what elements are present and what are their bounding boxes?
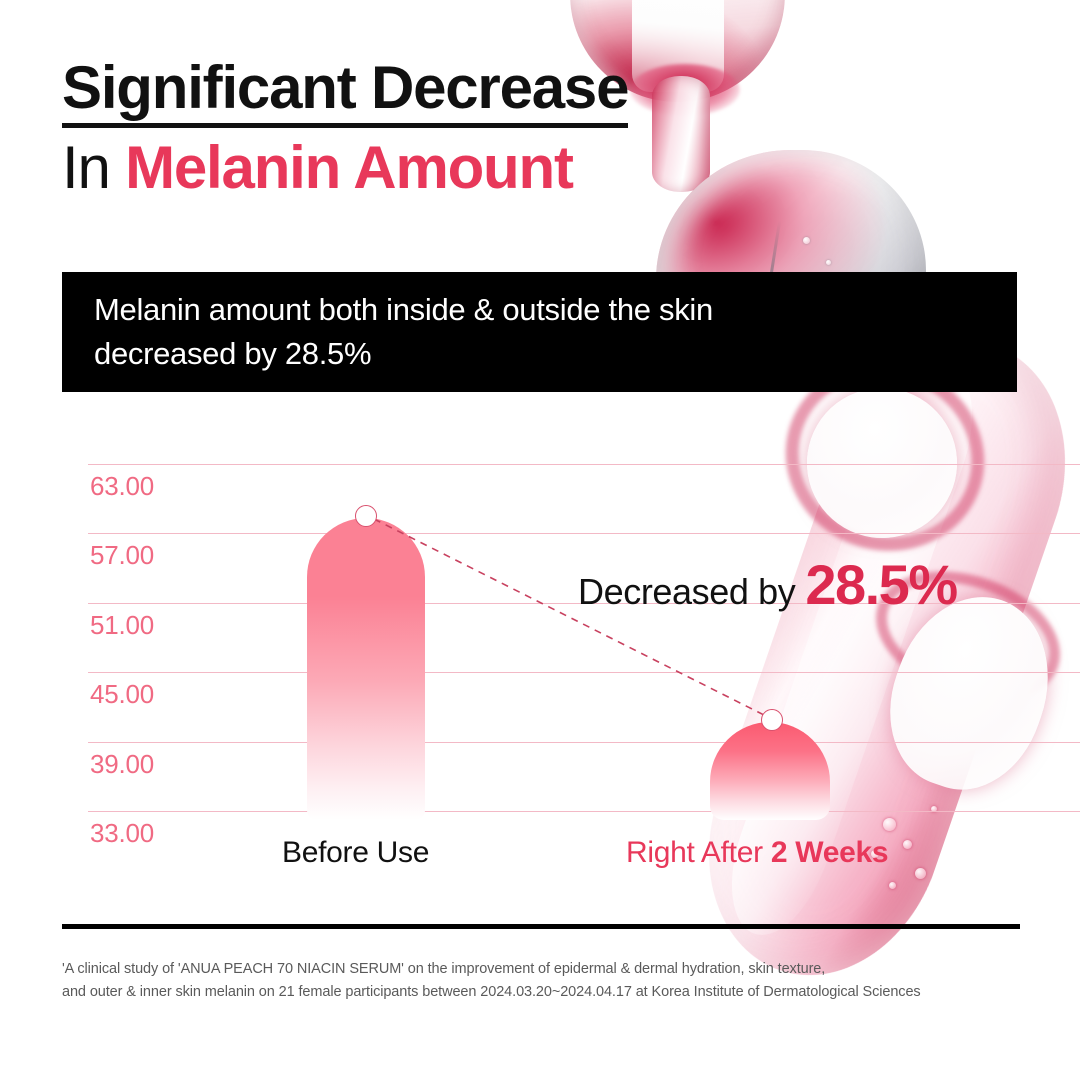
- x-axis-label-after-bold: 2 Weeks: [771, 836, 888, 869]
- footer-divider: [62, 924, 1020, 929]
- footnote-line-1: 'A clinical study of 'ANUA PEACH 70 NIAC…: [62, 958, 1042, 981]
- decrease-callout: Decreased by 28.5%: [578, 552, 957, 617]
- infographic-page: Significant Decrease In Melanin Amount M…: [0, 0, 1080, 1080]
- title-line-2-prefix: In: [62, 134, 125, 201]
- x-axis-label-after: Right After 2 Weeks: [626, 836, 888, 870]
- callout-label: Decreased by: [578, 571, 795, 613]
- title-line-2-accent: Melanin Amount: [125, 134, 573, 201]
- data-point-marker-after: [761, 709, 783, 731]
- title-line-1: Significant Decrease: [62, 56, 628, 128]
- footnote-line-2: and outer & inner skin melanin on 21 fem…: [62, 981, 1042, 1004]
- x-axis-label-after-regular: Right After: [626, 836, 771, 869]
- title-line-2: In Melanin Amount: [62, 136, 628, 200]
- x-axis-label-before: Before Use: [282, 836, 429, 870]
- summary-banner: Melanin amount both inside & outside the…: [62, 272, 1017, 392]
- banner-line-2: decreased by 28.5%: [94, 332, 985, 376]
- data-point-marker-before: [355, 505, 377, 527]
- page-title: Significant Decrease In Melanin Amount: [62, 56, 628, 199]
- callout-value: 28.5%: [805, 552, 956, 617]
- banner-line-1: Melanin amount both inside & outside the…: [94, 288, 985, 332]
- footnote: 'A clinical study of 'ANUA PEACH 70 NIAC…: [62, 958, 1042, 1005]
